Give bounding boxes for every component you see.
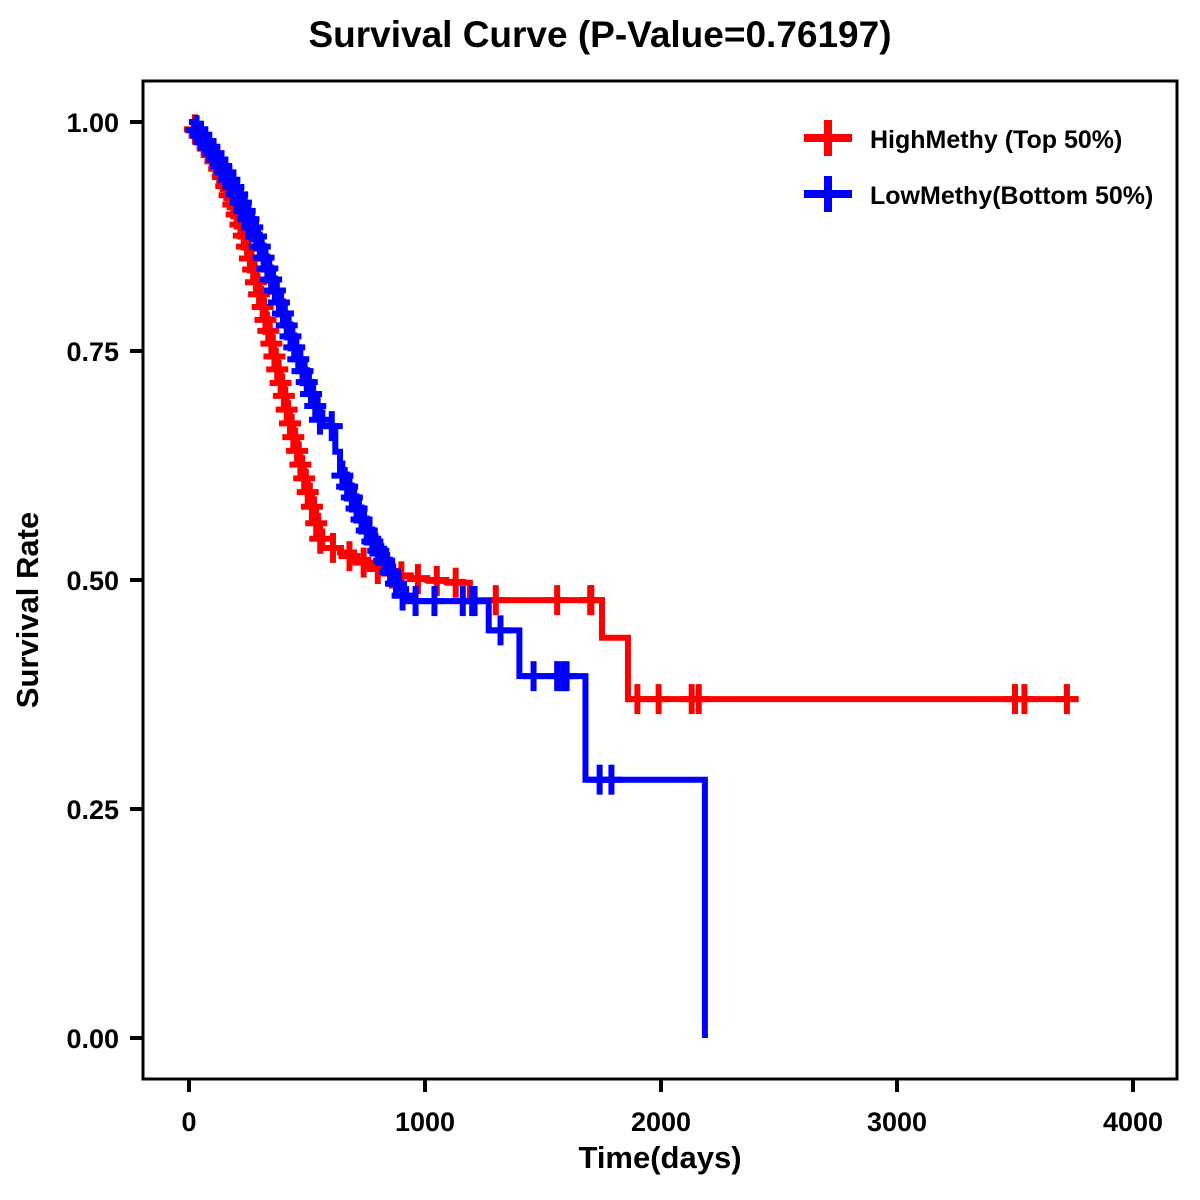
x-tick-label: 2000 [631, 1107, 691, 1137]
y-tick-label: 0.25 [66, 795, 119, 825]
chart-legend: HighMethy (Top 50%)LowMethy(Bottom 50%) [804, 120, 1153, 212]
y-tick-label: 0.00 [66, 1024, 119, 1054]
survival-plot: 01000200030004000 0.000.250.500.751.00 H… [0, 0, 1200, 1200]
y-tick-label: 1.00 [66, 108, 119, 138]
plot-frame [143, 81, 1177, 1079]
legend-item: LowMethy(Bottom 50%) [804, 176, 1153, 212]
x-tick-label: 4000 [1103, 1107, 1163, 1137]
legend-label: LowMethy(Bottom 50%) [870, 182, 1153, 210]
y-tick-label: 0.50 [66, 566, 119, 596]
chart-page: Survival Curve (P-Value=0.76197) 0100020… [0, 0, 1200, 1200]
x-axis-title: Time(days) [578, 1140, 741, 1175]
y-tick-label: 0.75 [66, 337, 119, 367]
x-tick-label: 3000 [867, 1107, 927, 1137]
series-layer [184, 114, 1079, 1038]
legend-item: HighMethy (Top 50%) [804, 120, 1122, 156]
x-tick-label: 1000 [395, 1107, 455, 1137]
x-axis-ticks: 01000200030004000 [181, 1079, 1163, 1137]
y-axis-ticks: 0.000.250.500.751.00 [66, 108, 143, 1054]
series-low-methy [186, 115, 705, 1038]
x-tick-label: 0 [181, 1107, 196, 1137]
legend-label: HighMethy (Top 50%) [870, 126, 1122, 154]
y-axis-title: Survival Rate [10, 512, 45, 708]
censor-marks [186, 115, 623, 794]
